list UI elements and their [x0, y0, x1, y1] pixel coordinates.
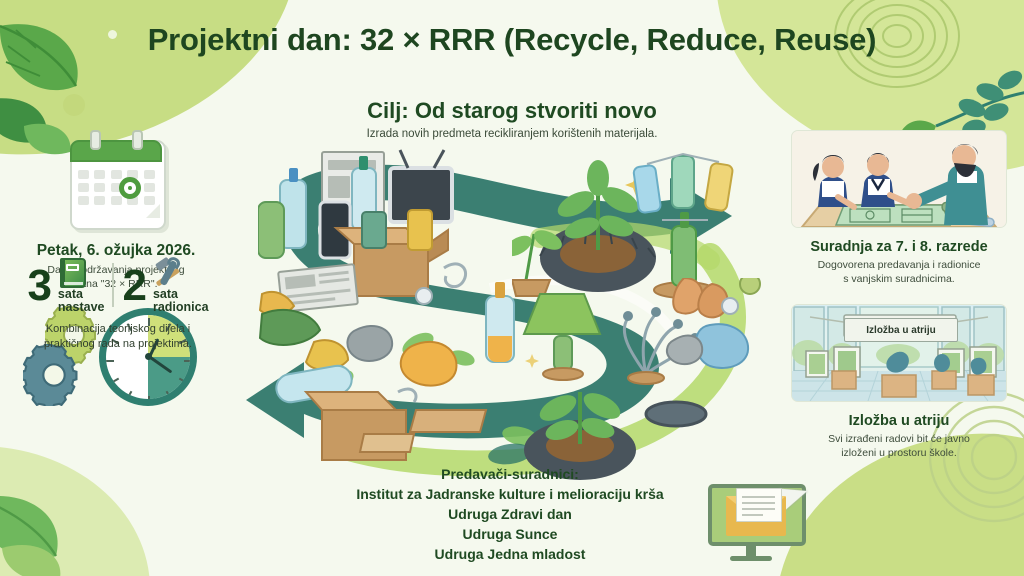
- speakers-heading: Predavači-suradnici:: [250, 466, 770, 482]
- exhibition-banner-text: Izložba u atriju: [866, 325, 935, 336]
- poster-title: Projektni dan: 32 × RRR (Recycle, Reduce…: [0, 22, 1024, 58]
- exhibition-banner: Izložba u atriju: [844, 318, 958, 342]
- exhibition-line1: Svi izrađeni radovi bit će javno: [828, 433, 970, 445]
- workshop-label-1: sata: [153, 287, 178, 301]
- hours-note-line2: praktičnog rada na projektima.: [44, 338, 192, 350]
- speaker-item: Udruga Zdravi dan: [250, 506, 770, 522]
- left-column: Petak, 6. ožujka 2026. Datum održavanja …: [0, 130, 232, 410]
- speaker-item: Udruga Sunce: [250, 526, 770, 542]
- speakers-block: Predavači-suradnici: Institut za Jadrans…: [250, 466, 770, 562]
- decor-dot: [57, 62, 73, 78]
- book-icon: [58, 258, 88, 288]
- bottle-wind-chime-icon: [633, 154, 733, 298]
- glass-bottle-icon: [258, 202, 284, 258]
- rags-icon: [347, 326, 456, 386]
- stat-divider: [112, 263, 114, 307]
- fabric-scraps-icon: [667, 324, 748, 368]
- hours-teaching-stat: 3 sata nastave: [27, 258, 104, 316]
- workshop-hours-number: 2: [122, 265, 146, 307]
- poster-canvas: Projektni dan: 32 × RRR (Recycle, Reduce…: [0, 0, 1024, 576]
- speaker-item: Institut za Jadranske kulture i meliorac…: [250, 486, 770, 502]
- leaf-blob-bottom-left: [0, 446, 150, 576]
- recycling-cycle-illustration: [240, 138, 780, 488]
- hours-note-line1: Kombinacija teorijskog dijela i: [46, 323, 190, 335]
- atrium-exhibition-illustration: Izložba u atriju: [791, 304, 1007, 402]
- collaboration-block: Suradnja za 7. i 8. razrede Dogovorena p…: [774, 130, 1024, 286]
- hours-block: 3 sata nastave 2: [6, 258, 230, 352]
- crushed-cans-icon: [260, 310, 348, 370]
- exhibition-line2: izloženi u prostoru škole.: [841, 447, 957, 459]
- exhibition-title: Izložba u atriju: [774, 413, 1024, 429]
- potted-plant-icon: [536, 388, 625, 444]
- tools-icon: [153, 258, 183, 288]
- teaching-label-1: sata: [58, 287, 83, 301]
- collaboration-line2: s vanjskim suradnicima.: [843, 273, 954, 285]
- leaf-sprig-bottom-left: [0, 452, 124, 576]
- students-teacher-planning-illustration: [791, 130, 1007, 228]
- collaboration-title: Suradnja za 7. i 8. razrede: [774, 239, 1024, 255]
- exhibition-block: Izložba u atriju Izložba u atriju Svi iz…: [774, 304, 1024, 460]
- old-boots-icon: [673, 278, 727, 317]
- right-column: Suradnja za 7. i 8. razrede Dogovorena p…: [774, 130, 1024, 460]
- hours-workshop-stat: 2 sata radionica: [122, 258, 208, 316]
- collaboration-line1: Dogovorena predavanja i radionice: [818, 259, 981, 271]
- teaching-label-2: nastave: [58, 300, 105, 314]
- gear-icon: [23, 344, 85, 406]
- workshop-label-2: radionica: [153, 300, 209, 314]
- goal-block: Cilj: Od starog stvoriti novo Izrada nov…: [262, 98, 762, 140]
- goal-heading: Cilj: Od starog stvoriti novo: [262, 98, 762, 124]
- calendar-icon: [64, 130, 168, 230]
- teaching-hours-number: 3: [27, 265, 51, 307]
- speaker-item: Udruga Jedna mladost: [250, 546, 770, 562]
- decor-dot: [63, 94, 85, 116]
- wire-icon: [398, 389, 416, 402]
